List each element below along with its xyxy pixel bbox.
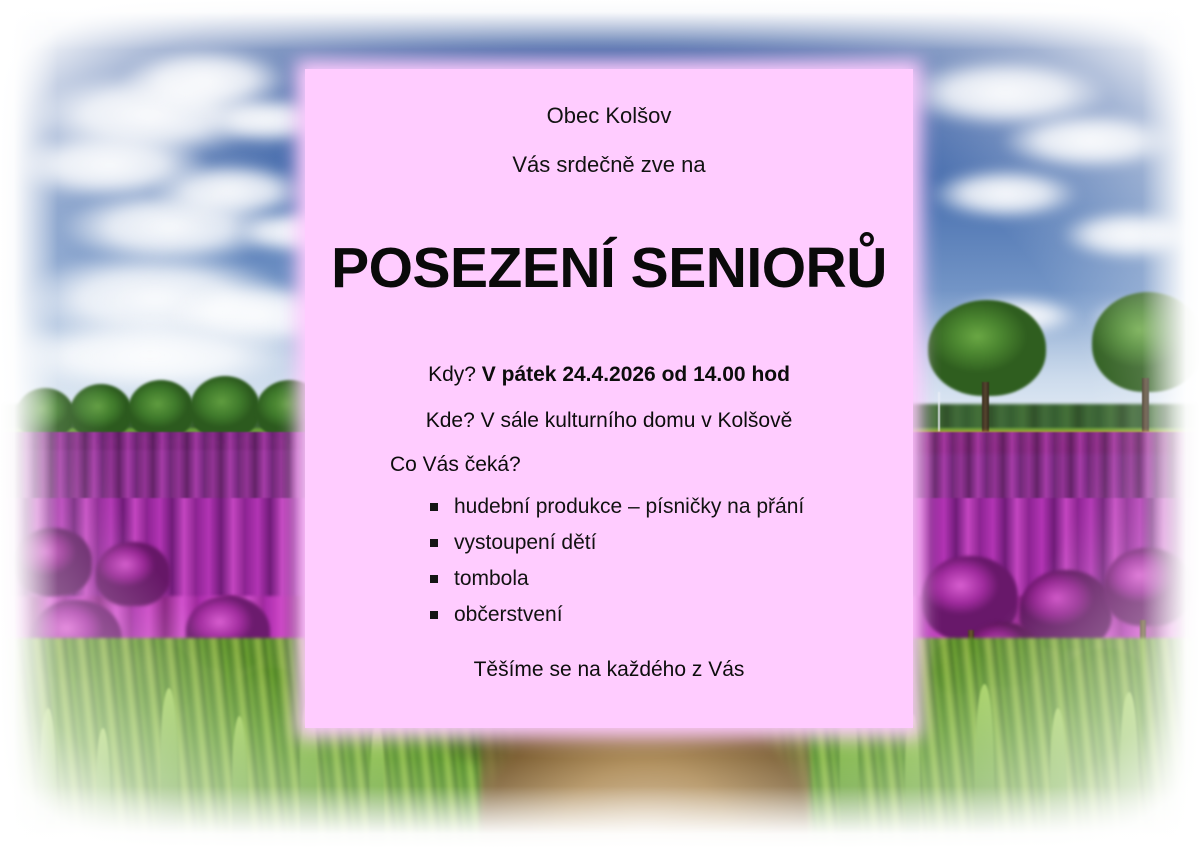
square-bullet-icon bbox=[430, 575, 438, 583]
cloud bbox=[1000, 112, 1180, 170]
when-label: Kdy? bbox=[428, 363, 476, 386]
grass-blade bbox=[1050, 708, 1066, 848]
tree-right-a bbox=[928, 300, 1058, 432]
organizer-line: Obec Kolšov bbox=[305, 105, 913, 127]
grass-blade bbox=[370, 722, 384, 848]
grass-blade bbox=[975, 684, 994, 848]
tulip-bloom bbox=[96, 542, 170, 606]
list-item: občerstvení bbox=[430, 604, 900, 625]
invitation-line: Vás srdečně zve na bbox=[305, 154, 913, 176]
poster-canvas: Obec Kolšov Vás srdečně zve na POSEZENÍ … bbox=[0, 0, 1200, 848]
page-title: POSEZENÍ SENIORŮ bbox=[305, 239, 913, 299]
tree-right-b bbox=[1092, 292, 1200, 432]
list-item-label: občerstvení bbox=[454, 603, 563, 626]
program-question: Co Vás čeká? bbox=[390, 454, 890, 475]
list-item-label: hudební produkce – písničky na přání bbox=[454, 495, 804, 518]
where-line: Kde? V sále kulturního domu v Kolšově bbox=[305, 410, 913, 431]
grass-blade bbox=[40, 708, 56, 848]
list-item-label: vystoupení dětí bbox=[454, 531, 596, 554]
poster-text-layer: Obec Kolšov Vás srdečně zve na POSEZENÍ … bbox=[305, 69, 913, 728]
square-bullet-icon bbox=[430, 611, 438, 619]
list-item: vystoupení dětí bbox=[430, 532, 900, 553]
tulip-bloom bbox=[1104, 548, 1192, 626]
grass-blade bbox=[1120, 692, 1138, 848]
when-line: Kdy? V pátek 24.4.2026 od 14.00 hod bbox=[305, 364, 913, 385]
square-bullet-icon bbox=[430, 539, 438, 547]
square-bullet-icon bbox=[430, 503, 438, 511]
windmill bbox=[938, 392, 940, 432]
list-item: hudební produkce – písničky na přání bbox=[430, 496, 900, 517]
cloud bbox=[930, 168, 1080, 220]
cloud bbox=[1060, 210, 1200, 260]
grass-blade bbox=[232, 716, 247, 848]
grass-blade bbox=[160, 688, 178, 848]
closing-line: Těšíme se na každého z Vás bbox=[305, 659, 913, 680]
list-item: tombola bbox=[430, 568, 900, 589]
tulip-bloom bbox=[14, 528, 92, 596]
program-list: hudební produkce – písničky na přání vys… bbox=[430, 496, 900, 640]
when-value: V pátek 24.4.2026 od 14.00 hod bbox=[482, 363, 790, 386]
grass-blade bbox=[96, 728, 110, 848]
list-item-label: tombola bbox=[454, 567, 529, 590]
